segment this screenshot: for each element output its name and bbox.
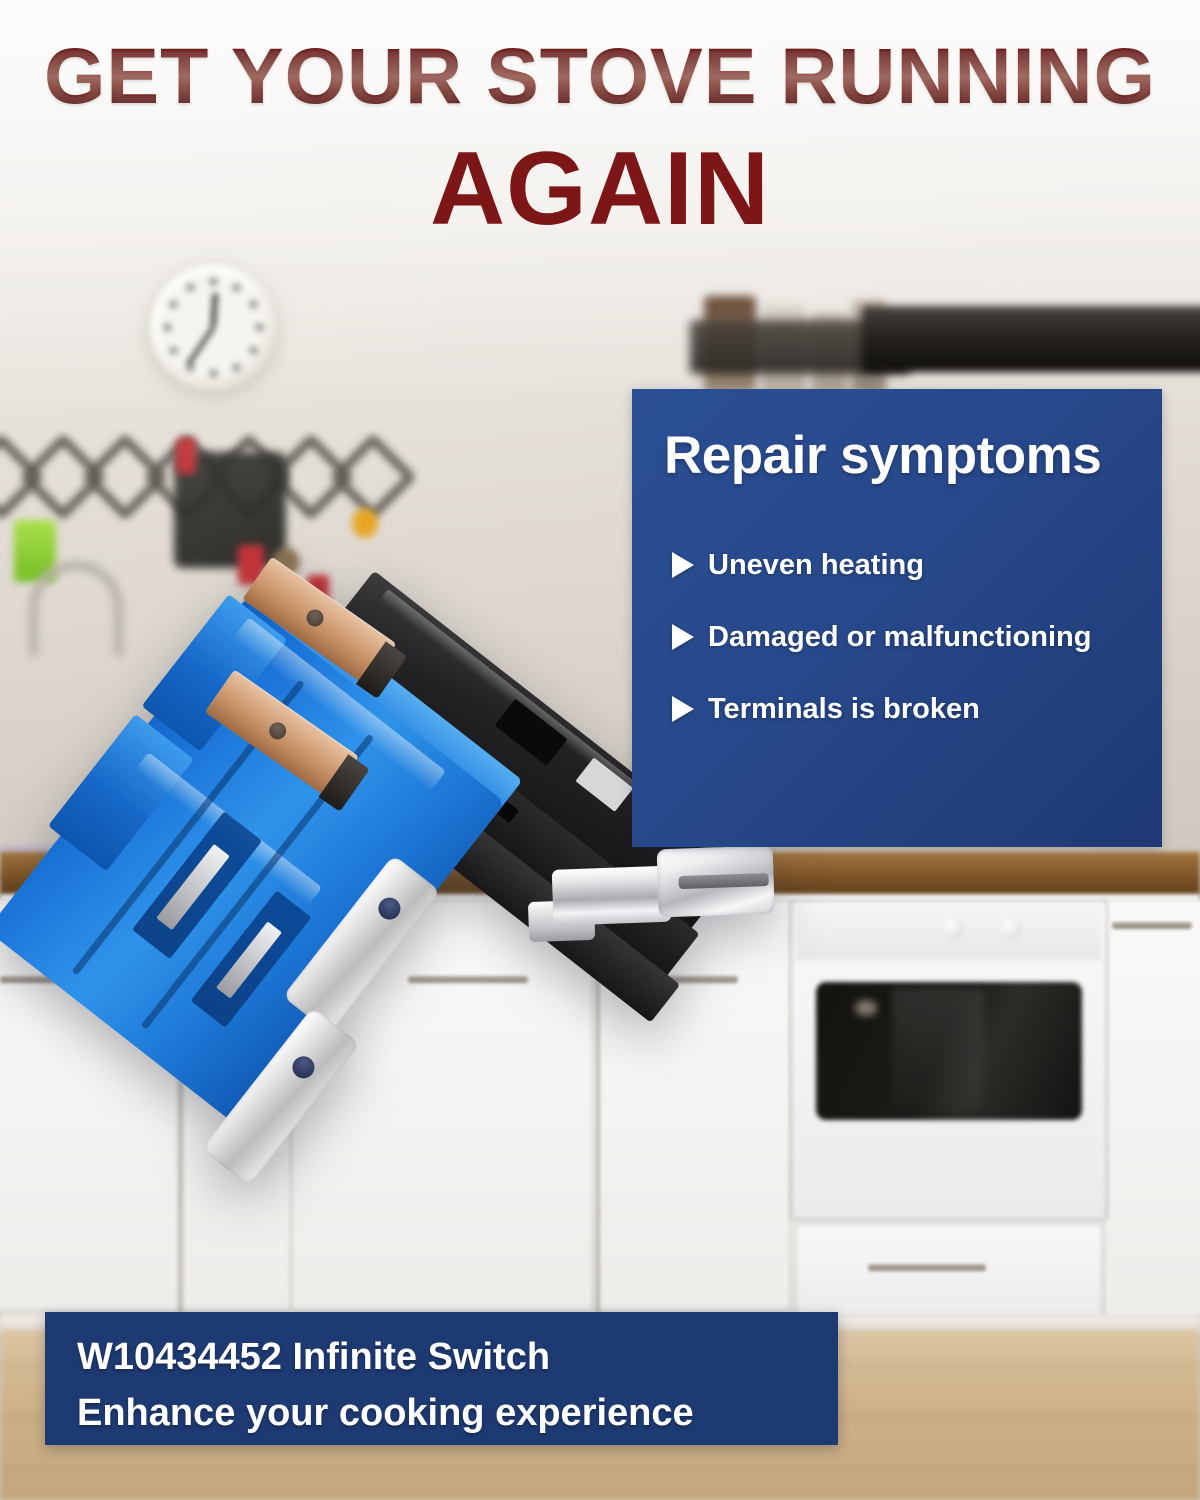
headline-primary: GET YOUR STOVE RUNNING xyxy=(0,36,1200,115)
caption-tagline: Enhance your cooking experience xyxy=(77,1376,838,1432)
bracket-screw-hole-2 xyxy=(288,1052,319,1083)
symptom-item: Uneven heating xyxy=(672,529,1152,601)
oven-interior-light xyxy=(855,1000,877,1016)
symptom-item: Terminals is broken xyxy=(672,673,1152,745)
triangle-right-icon xyxy=(672,696,694,722)
triangle-right-icon xyxy=(672,624,694,650)
clock-hour-hand xyxy=(210,293,218,327)
symptom-label: Terminals is broken xyxy=(708,693,980,726)
oven-knob-left xyxy=(942,918,964,940)
clock-minute-hand xyxy=(185,326,215,367)
terminal-hole-2 xyxy=(266,719,290,743)
product-poster: GET YOUR STOVE RUNNING AGAIN xyxy=(0,0,1200,1500)
hanging-utensil-red-3 xyxy=(176,438,196,474)
oven-glass-sheen xyxy=(892,988,984,1110)
caption-part-name: W10434452 Infinite Switch xyxy=(77,1312,838,1376)
symptom-label: Uneven heating xyxy=(708,549,924,582)
cabinet-door-4 xyxy=(1104,900,1200,1316)
headline-secondary: AGAIN xyxy=(0,137,1200,241)
product-caption-bar: W10434452 Infinite Switch Enhance your c… xyxy=(45,1312,838,1445)
cabinet-handle-4 xyxy=(1112,922,1192,929)
repair-symptoms-panel: Repair symptoms Uneven heating Damaged o… xyxy=(632,389,1162,847)
oven-drawer-handle xyxy=(868,1264,986,1271)
wall-clock xyxy=(150,264,276,390)
symptoms-panel-title: Repair symptoms xyxy=(664,425,1101,486)
shaft-stem xyxy=(552,866,672,926)
symptom-item: Damaged or malfunctioning xyxy=(672,601,1152,673)
bracket-screw-hole-1 xyxy=(374,893,405,924)
oven-knob-right xyxy=(1000,918,1022,940)
clock-face xyxy=(161,275,265,379)
range-hood xyxy=(862,306,1200,372)
triangle-right-icon xyxy=(672,552,694,578)
symptom-label: Damaged or malfunctioning xyxy=(708,621,1091,654)
headline-block: GET YOUR STOVE RUNNING AGAIN xyxy=(0,36,1200,241)
symptoms-list: Uneven heating Damaged or malfunctioning… xyxy=(672,529,1152,745)
terminal-hole-1 xyxy=(303,606,327,630)
